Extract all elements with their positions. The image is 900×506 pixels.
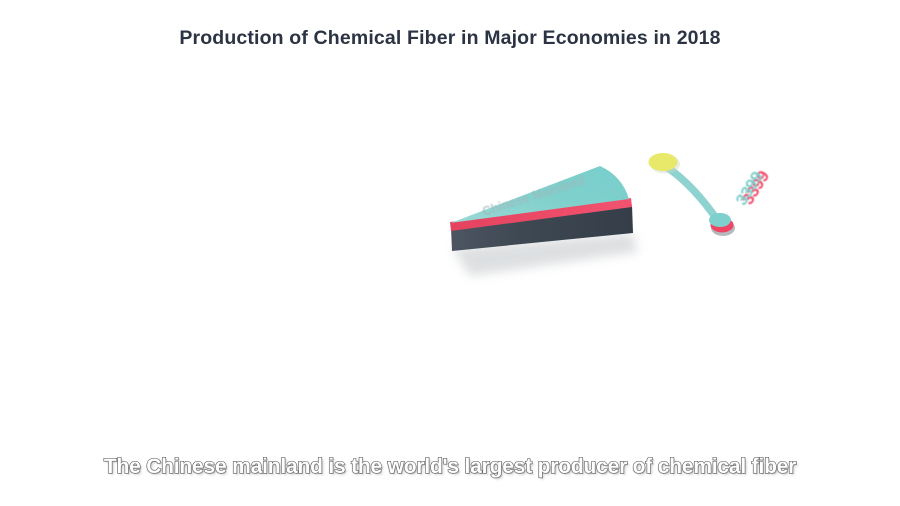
callout-start-marker bbox=[649, 153, 681, 174]
pie-chart-graphic: Chinese Mainland bbox=[0, 0, 900, 506]
callout-end-marker bbox=[709, 213, 735, 236]
chart-canvas: Production of Chemical Fiber in Major Ec… bbox=[0, 0, 900, 506]
caption-text: The Chinese mainland is the world's larg… bbox=[0, 455, 900, 479]
callout-connector bbox=[668, 168, 718, 221]
